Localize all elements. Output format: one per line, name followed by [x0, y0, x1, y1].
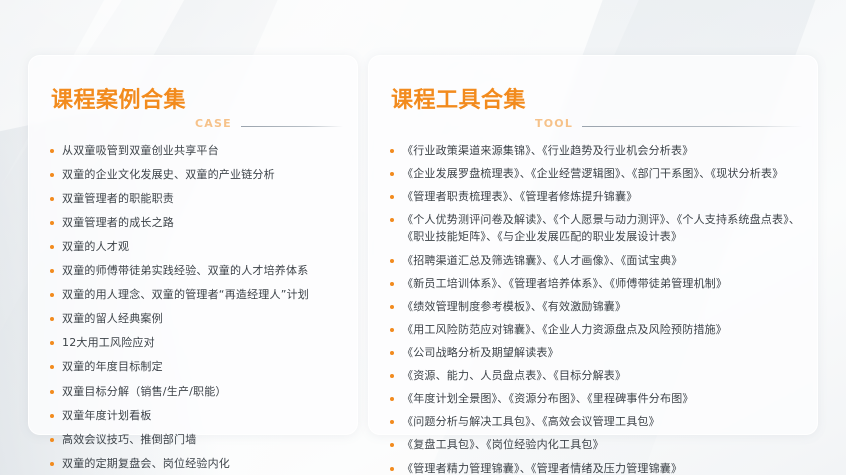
- list-item: 双童管理者的成长之路: [49, 215, 341, 231]
- bullet-dot-icon: [390, 351, 394, 355]
- panel-case-header: 课程案例合集 CASE: [43, 72, 343, 131]
- bullet-dot-icon: [390, 397, 394, 401]
- list-item: 12大用工风险应对: [49, 335, 341, 351]
- list-item: 《管理者职责梳理表》、《管理者修炼提升锦囊》: [389, 189, 801, 205]
- list-item-text: 《问题分析与解决工具包》、《高效会议管理工具包》: [402, 414, 801, 430]
- list-item-text: 双童的企业文化发展史、双童的产业链分析: [62, 168, 275, 181]
- list-item-text: 《管理者精力管理锦囊》、《管理者情绪及压力管理锦囊》: [402, 461, 801, 475]
- list-item: 《复盘工具包》、《岗位经验内化工具包》: [389, 437, 801, 453]
- panel-tool-subtitle: TOOL: [535, 118, 573, 129]
- bullet-dot-icon: [50, 293, 54, 297]
- list-item: 双童的留人经典案例: [49, 311, 341, 327]
- case-list: 从双童吸管到双童创业共享平台 双童的企业文化发展史、双童的产业链分析 双童管理者…: [43, 143, 343, 475]
- list-item: 双童年度计划看板: [49, 408, 341, 424]
- list-item-text: 双童目标分解（销售/生产/职能）: [62, 385, 227, 398]
- list-item-text: 双童的定期复盘会、岗位经验内化: [62, 457, 230, 470]
- list-item: 《企业发展罗盘梳理表》、《企业经营逻辑图》、《部门干系图》、《现状分析表》: [389, 166, 801, 182]
- list-item-text-wrap: 《职业技能矩阵》、《与企业发展匹配的职业发展设计表》: [402, 229, 801, 245]
- list-item-text: 双童的留人经典案例: [62, 312, 163, 325]
- list-item: 双童的定期复盘会、岗位经验内化: [49, 456, 341, 472]
- bullet-dot-icon: [50, 438, 54, 442]
- list-item: 双童的年度目标制定: [49, 359, 341, 375]
- list-item-text: 《年度计划全景图》、《资源分布图》、《里程碑事件分布图》: [402, 391, 801, 407]
- list-item-text: 12大用工风险应对: [62, 336, 155, 349]
- bullet-dot-icon: [50, 414, 54, 418]
- list-item-text: 《新员工培训体系》、《管理者培养体系》、《师傅带徒弟管理机制》: [402, 276, 801, 292]
- list-item: 双童目标分解（销售/生产/职能）: [49, 384, 341, 400]
- bullet-dot-icon: [390, 195, 394, 199]
- list-item: 《绩效管理制度参考模板》、《有效激励锦囊》: [389, 299, 801, 315]
- bullet-dot-icon: [390, 259, 394, 263]
- list-item: 双童的人才观: [49, 239, 341, 255]
- list-item: 从双童吸管到双童创业共享平台: [49, 143, 341, 159]
- list-item-text: 《资源、能力、人员盘点表》、《目标分解表》: [402, 368, 801, 384]
- list-item-text: 从双童吸管到双童创业共享平台: [62, 144, 219, 157]
- list-item-text: 《招聘渠道汇总及筛选锦囊》、《人才画像》、《面试宝典》: [402, 253, 801, 269]
- list-item: 双童管理者的职能职责: [49, 191, 341, 207]
- list-item-text: 双童的师傅带徒弟实践经验、双童的人才培养体系: [62, 264, 308, 277]
- list-item-text: 《公司战略分析及期望解读表》: [402, 345, 801, 361]
- list-item-text: 《行业政策渠道来源集锦》、《行业趋势及行业机会分析表》: [402, 143, 801, 159]
- bullet-dot-icon: [390, 149, 394, 153]
- list-item-text: 《企业发展罗盘梳理表》、《企业经营逻辑图》、《部门干系图》、《现状分析表》: [402, 166, 801, 182]
- list-item-text: 《用工风险防范应对锦囊》、《企业人力资源盘点及风险预防措施》: [402, 322, 801, 338]
- list-item: 《个人优势测评问卷及解读》、《个人愿景与动力测评》、《个人支持系统盘点表》、《职…: [389, 212, 801, 245]
- list-item: 双童的师傅带徒弟实践经验、双童的人才培养体系: [49, 263, 341, 279]
- panel-tool-header: 课程工具合集 TOOL: [383, 72, 803, 131]
- bullet-dot-icon: [390, 420, 394, 424]
- bullet-dot-icon: [50, 173, 54, 177]
- panel-tool-title: 课程工具合集: [391, 90, 526, 112]
- list-item: 《公司战略分析及期望解读表》: [389, 345, 801, 361]
- list-item-text: 《绩效管理制度参考模板》、《有效激励锦囊》: [402, 299, 801, 315]
- panel-container: 课程案例合集 CASE 从双童吸管到双童创业共享平台 双童的企业文化发展史、双童…: [0, 0, 846, 475]
- bullet-dot-icon: [390, 305, 394, 309]
- bullet-dot-icon: [50, 317, 54, 321]
- list-item-text: 《管理者职责梳理表》、《管理者修炼提升锦囊》: [402, 189, 801, 205]
- bullet-dot-icon: [50, 365, 54, 369]
- list-item-text: 双童的人才观: [62, 240, 129, 253]
- panel-case: 课程案例合集 CASE 从双童吸管到双童创业共享平台 双童的企业文化发展史、双童…: [28, 55, 358, 435]
- list-item-text: 《个人优势测评问卷及解读》、《个人愿景与动力测评》、《个人支持系统盘点表》、: [402, 212, 801, 228]
- list-item: 《招聘渠道汇总及筛选锦囊》、《人才画像》、《面试宝典》: [389, 253, 801, 269]
- bullet-dot-icon: [50, 149, 54, 153]
- bullet-dot-icon: [50, 269, 54, 273]
- bullet-dot-icon: [50, 390, 54, 394]
- list-item-text: 双童年度计划看板: [62, 409, 152, 422]
- list-item-text: 双童的用人理念、双童的管理者“再造经理人”计划: [62, 288, 309, 301]
- list-item: 《管理者精力管理锦囊》、《管理者情绪及压力管理锦囊》: [389, 461, 801, 475]
- bullet-dot-icon: [390, 374, 394, 378]
- list-item: 双童的企业文化发展史、双童的产业链分析: [49, 167, 341, 183]
- list-item-text: 高效会议技巧、推倒部门墙: [62, 433, 196, 446]
- header-divider: [241, 126, 343, 127]
- bullet-dot-icon: [390, 443, 394, 447]
- list-item-text: 《复盘工具包》、《岗位经验内化工具包》: [402, 437, 801, 453]
- list-item: 双童的用人理念、双童的管理者“再造经理人”计划: [49, 287, 341, 303]
- list-item-text: 双童管理者的职能职责: [62, 192, 174, 205]
- bullet-dot-icon: [390, 218, 394, 222]
- list-item: 高效会议技巧、推倒部门墙: [49, 432, 341, 448]
- list-item: 《资源、能力、人员盘点表》、《目标分解表》: [389, 368, 801, 384]
- list-item-text: 双童管理者的成长之路: [62, 216, 174, 229]
- list-item: 《行业政策渠道来源集锦》、《行业趋势及行业机会分析表》: [389, 143, 801, 159]
- list-item: 《问题分析与解决工具包》、《高效会议管理工具包》: [389, 414, 801, 430]
- header-divider: [582, 126, 803, 127]
- panel-case-subtitle: CASE: [195, 118, 232, 129]
- list-item: 《新员工培训体系》、《管理者培养体系》、《师傅带徒弟管理机制》: [389, 276, 801, 292]
- list-item: 《年度计划全景图》、《资源分布图》、《里程碑事件分布图》: [389, 391, 801, 407]
- bullet-dot-icon: [50, 245, 54, 249]
- list-item: 《用工风险防范应对锦囊》、《企业人力资源盘点及风险预防措施》: [389, 322, 801, 338]
- bullet-dot-icon: [50, 341, 54, 345]
- panel-case-title: 课程案例合集: [51, 90, 186, 112]
- panel-tool: 课程工具合集 TOOL 《行业政策渠道来源集锦》、《行业趋势及行业机会分析表》 …: [368, 55, 818, 435]
- bullet-dot-icon: [390, 172, 394, 176]
- bullet-dot-icon: [390, 328, 394, 332]
- bullet-dot-icon: [50, 197, 54, 201]
- bullet-dot-icon: [390, 467, 394, 471]
- tool-list: 《行业政策渠道来源集锦》、《行业趋势及行业机会分析表》 《企业发展罗盘梳理表》、…: [383, 143, 803, 475]
- list-item-text: 双童的年度目标制定: [62, 360, 163, 373]
- bullet-dot-icon: [50, 462, 54, 466]
- bullet-dot-icon: [390, 282, 394, 286]
- slide-canvas: 课程案例合集 CASE 从双童吸管到双童创业共享平台 双童的企业文化发展史、双童…: [0, 0, 846, 475]
- bullet-dot-icon: [50, 221, 54, 225]
